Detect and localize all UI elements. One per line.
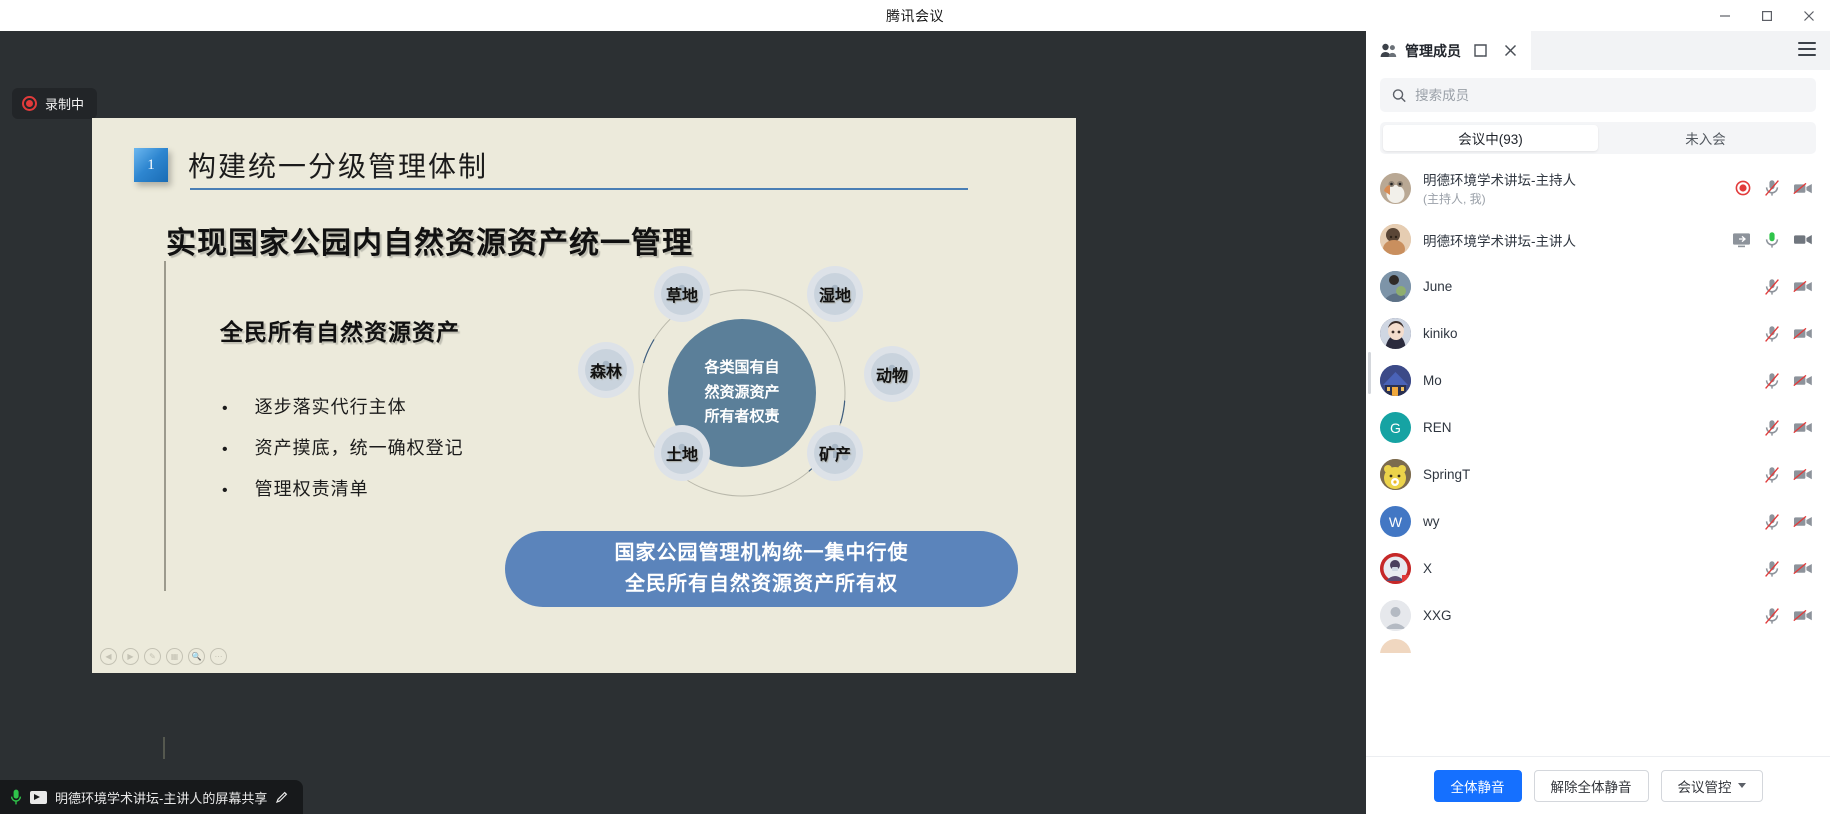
title-underline [190, 188, 968, 190]
slide-subheading: 全民所有自然资源资产 [220, 313, 460, 347]
avatar [1380, 553, 1411, 584]
node-label: 森林 [590, 358, 622, 382]
maximize-icon[interactable] [1746, 0, 1788, 31]
panel-title-chip: 管理成员 [1366, 31, 1531, 70]
close-icon[interactable] [1788, 0, 1830, 31]
participant-actions [1764, 607, 1813, 625]
close-icon[interactable] [1499, 40, 1521, 62]
table-row[interactable]: 明德环境学术讲坛-主讲人 [1366, 216, 1830, 263]
participants-panel: 管理成员 [1366, 31, 1830, 814]
participant-tabs: 会议中(93) 未入会 [1380, 122, 1816, 154]
scrollbar[interactable] [1368, 352, 1371, 394]
participant-actions [1764, 278, 1813, 296]
hub-line-2: 然资源资产 [704, 381, 779, 406]
avatar [1380, 224, 1411, 255]
presentation-slide: 1 构建统一分级管理体制 实现国家公园内自然资源资产统一管理 全民所有自然资源资… [92, 118, 1076, 673]
window-title: 腾讯会议 [886, 6, 944, 26]
meeting-window: 腾讯会议 录制中 1 构建统一分级管理体制 实现国家公园内自然 [0, 0, 1830, 814]
banner-line-1: 国家公园管理机构统一集中行使 [615, 538, 909, 569]
popout-icon[interactable] [1469, 40, 1491, 62]
microphone-muted-icon[interactable] [1764, 179, 1780, 197]
recording-badge: 录制中 [12, 88, 97, 119]
avatar [1380, 173, 1411, 204]
bullet-text: 逐步落实代行主体 [255, 393, 407, 419]
participant-name: X [1423, 561, 1752, 576]
bullet-dot-icon: • [222, 401, 229, 417]
table-row[interactable]: June [1366, 263, 1830, 310]
node-label: 草地 [666, 282, 698, 306]
search-box[interactable] [1380, 78, 1816, 112]
avatar [1380, 639, 1411, 653]
participant-info: June [1423, 279, 1752, 294]
chevron-down-icon [1738, 783, 1746, 788]
participant-info: X [1423, 561, 1752, 576]
bullet-text: 资产摸底，统一确权登记 [255, 434, 464, 460]
table-row[interactable]: SpringT [1366, 451, 1830, 498]
participant-actions [1764, 372, 1813, 390]
shared-screen-stage: 录制中 1 构建统一分级管理体制 实现国家公园内自然资源资产统一管理 全民所有自… [0, 31, 1366, 814]
people-icon [1380, 43, 1397, 58]
participant-actions [1732, 231, 1813, 249]
microphone-icon[interactable] [10, 789, 22, 806]
panel-header: 管理成员 [1366, 31, 1830, 70]
microphone-muted-icon[interactable] [1764, 419, 1780, 437]
diagram-node-shidi: 湿地 [807, 266, 863, 322]
window-controls [1704, 0, 1830, 31]
camera-off-icon[interactable] [1793, 514, 1813, 529]
camera-off-icon[interactable] [1793, 561, 1813, 576]
microphone-active-icon[interactable] [1764, 231, 1780, 249]
camera-off-icon[interactable] [1793, 420, 1813, 435]
search-icon [1392, 88, 1406, 103]
screen-share-icon [30, 791, 47, 804]
prev-slide-icon[interactable]: ◀ [100, 648, 117, 665]
text-caret [163, 737, 165, 759]
participant-actions [1764, 560, 1813, 578]
panel-footer: 全体静音 解除全体静音 会议管控 [1366, 756, 1830, 814]
participant-info: Mo [1423, 373, 1752, 388]
camera-on-icon[interactable] [1793, 232, 1813, 247]
table-row[interactable] [1366, 639, 1830, 653]
list-item: •逐步落实代行主体 [222, 393, 464, 419]
diagram-node-senlin: 森林 [578, 342, 634, 398]
microphone-muted-icon[interactable] [1764, 278, 1780, 296]
table-row[interactable]: 明德环境学术讲坛-主持人 (主持人, 我) [1366, 160, 1830, 216]
participant-name: XXG [1423, 608, 1752, 623]
left-vertical-rule [164, 261, 166, 591]
header-spacer [1531, 31, 1830, 70]
recording-label: 录制中 [45, 94, 84, 113]
avatar: G [1380, 412, 1411, 443]
camera-off-icon[interactable] [1793, 467, 1813, 482]
node-label: 动物 [876, 362, 908, 386]
table-row[interactable]: X [1366, 545, 1830, 592]
participant-name: kiniko [1423, 326, 1752, 341]
record-dot-icon[interactable] [1735, 180, 1751, 196]
table-row[interactable]: G REN [1366, 404, 1830, 451]
participant-info: 明德环境学术讲坛-主持人 (主持人, 我) [1423, 169, 1723, 207]
next-slide-icon[interactable]: ▶ [122, 648, 139, 665]
record-dot-icon [22, 96, 37, 111]
slide-title-row: 1 构建统一分级管理体制 [134, 145, 488, 185]
diagram-node-caodi: 草地 [654, 266, 710, 322]
microphone-muted-icon[interactable] [1764, 513, 1780, 531]
microphone-muted-icon[interactable] [1764, 325, 1780, 343]
participant-name: June [1423, 279, 1752, 294]
diagram-node-tudi: 土地 [654, 425, 710, 481]
unmute-all-button[interactable]: 解除全体静音 [1534, 770, 1649, 802]
meeting-control-label: 会议管控 [1678, 776, 1732, 796]
slide-bullet-list: •逐步落实代行主体 •资产摸底，统一确权登记 •管理权责清单 [222, 393, 464, 516]
radial-diagram: 各类国有自 然资源资产 所有者权责 草地 森林 土地 [512, 268, 972, 518]
minimize-icon[interactable] [1704, 0, 1746, 31]
hub-line-3: 所有者权责 [704, 405, 779, 430]
screen-share-status-bar: 明德环境学术讲坛-主讲人的屏幕共享 [0, 780, 303, 814]
node-label: 湿地 [819, 282, 851, 306]
participant-actions [1764, 325, 1813, 343]
presentation-controls: ◀ ▶ ✎ ▦ 🔍 ⋯ [100, 648, 227, 665]
participant-info: XXG [1423, 608, 1752, 623]
tab-not-joined[interactable]: 未入会 [1598, 125, 1813, 151]
share-status-label: 明德环境学术讲坛-主讲人的屏幕共享 [55, 788, 267, 807]
camera-off-icon[interactable] [1793, 373, 1813, 388]
node-label: 矿产 [819, 441, 851, 465]
participant-name: Mo [1423, 373, 1752, 388]
list-item: •资产摸底，统一确权登记 [222, 434, 464, 460]
search-input[interactable] [1415, 88, 1804, 103]
avatar [1380, 459, 1411, 490]
camera-off-icon[interactable] [1793, 608, 1813, 623]
participant-info: kiniko [1423, 326, 1752, 341]
participant-info: REN [1423, 420, 1752, 435]
zoom-icon[interactable]: 🔍 [188, 648, 205, 665]
camera-off-icon[interactable] [1793, 279, 1813, 294]
avatar [1380, 365, 1411, 396]
avatar: W [1380, 506, 1411, 537]
participant-role: (主持人, 我) [1423, 190, 1723, 207]
participant-actions [1764, 466, 1813, 484]
microphone-muted-icon[interactable] [1764, 372, 1780, 390]
title-bar: 腾讯会议 [0, 0, 1830, 31]
slide-number-badge: 1 [134, 148, 168, 182]
slide-title: 构建统一分级管理体制 [188, 145, 488, 185]
camera-off-icon[interactable] [1793, 326, 1813, 341]
bullet-dot-icon: • [222, 483, 229, 499]
banner-line-2: 全民所有自然资源资产所有权 [625, 569, 898, 600]
camera-off-icon[interactable] [1793, 181, 1813, 196]
participant-info: SpringT [1423, 467, 1752, 482]
screen-share-icon[interactable] [1732, 232, 1751, 248]
more-options-icon[interactable]: ⋯ [210, 648, 227, 665]
microphone-muted-icon[interactable] [1764, 560, 1780, 578]
slide-heading: 实现国家公园内自然资源资产统一管理 [166, 218, 693, 262]
search-area [1366, 70, 1830, 118]
panel-title: 管理成员 [1405, 41, 1461, 61]
pen-icon[interactable]: ✎ [144, 648, 161, 665]
avatar [1380, 318, 1411, 349]
microphone-muted-icon[interactable] [1764, 466, 1780, 484]
participant-info: 明德环境学术讲坛-主讲人 [1423, 230, 1720, 250]
participant-info: wy [1423, 514, 1752, 529]
pencil-icon[interactable] [275, 790, 289, 804]
participant-name: 明德环境学术讲坛-主持人 [1423, 169, 1723, 189]
table-row[interactable]: kiniko [1366, 310, 1830, 357]
participant-actions [1764, 419, 1813, 437]
slide-grid-icon[interactable]: ▦ [166, 648, 183, 665]
bullet-dot-icon: • [222, 442, 229, 458]
microphone-muted-icon[interactable] [1764, 607, 1780, 625]
participant-name: wy [1423, 514, 1752, 529]
diagram-node-dongwu: 动物 [864, 346, 920, 402]
hub-line-1: 各类国有自 [704, 356, 779, 381]
participant-name: 明德环境学术讲坛-主讲人 [1423, 230, 1720, 250]
table-row[interactable]: W wy [1366, 498, 1830, 545]
diagram-node-kuangchan: 矿产 [807, 425, 863, 481]
slide-banner: 国家公园管理机构统一集中行使 全民所有自然资源资产所有权 [505, 531, 1018, 607]
list-item: •管理权责清单 [222, 475, 464, 501]
meeting-control-button[interactable]: 会议管控 [1661, 770, 1763, 802]
participant-list[interactable]: 明德环境学术讲坛-主持人 (主持人, 我) 明德环境学术讲坛-主讲人 [1366, 156, 1830, 756]
participant-name: SpringT [1423, 467, 1752, 482]
table-row[interactable]: Mo [1366, 357, 1830, 404]
avatar [1380, 600, 1411, 631]
bullet-text: 管理权责清单 [255, 475, 369, 501]
participant-actions [1764, 513, 1813, 531]
avatar [1380, 271, 1411, 302]
participant-actions [1735, 179, 1813, 197]
hamburger-menu-icon[interactable] [1798, 42, 1816, 56]
mute-all-button[interactable]: 全体静音 [1434, 770, 1522, 802]
table-row[interactable]: XXG [1366, 592, 1830, 639]
node-label: 土地 [666, 441, 698, 465]
participant-name: REN [1423, 420, 1752, 435]
tab-in-meeting[interactable]: 会议中(93) [1383, 125, 1598, 151]
